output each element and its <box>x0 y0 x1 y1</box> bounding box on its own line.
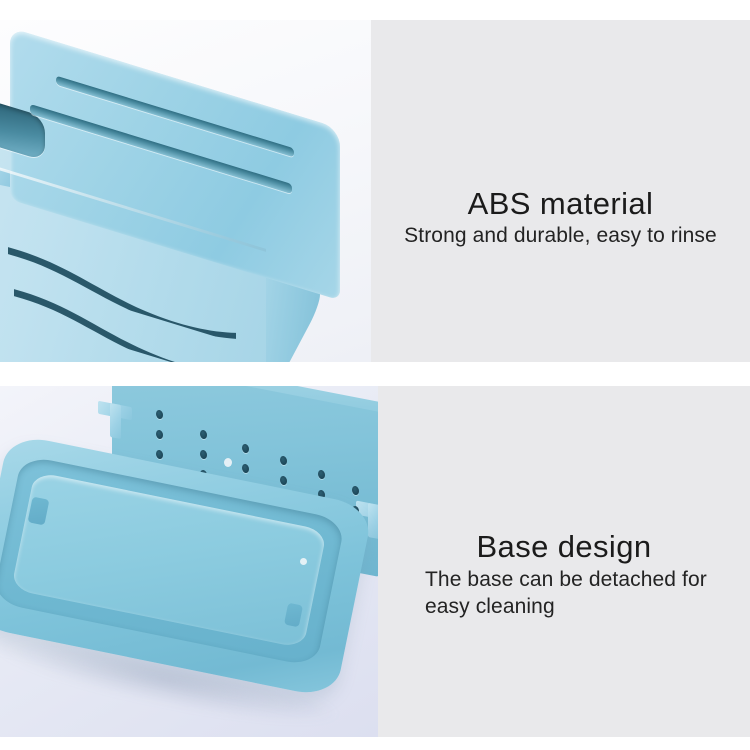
drain-hole <box>200 449 207 459</box>
product-photo-bottom <box>0 386 378 737</box>
text-panel-base-design: Base design The base can be detached for… <box>378 386 750 737</box>
detachable-base-tray <box>0 468 364 720</box>
feature-subtitle-abs-material: Strong and durable, easy to rinse <box>371 222 750 249</box>
mounting-tab-left-stem <box>110 403 121 439</box>
drain-hole <box>200 429 207 439</box>
mounting-tab-right-stem <box>368 503 378 539</box>
drain-hole <box>156 409 163 419</box>
drain-hole <box>156 429 163 439</box>
feature-subtitle-base-design: The base can be detached for easy cleani… <box>425 566 735 620</box>
drain-hole <box>280 455 287 465</box>
feature-heading-base-design: Base design <box>378 529 750 565</box>
feature-heading-abs-material: ABS material <box>371 186 750 222</box>
surface-speck <box>300 558 307 565</box>
text-panel-abs-material: ABS material Strong and durable, easy to… <box>371 20 750 362</box>
drain-hole <box>242 443 249 453</box>
product-photo-top <box>0 20 371 362</box>
product-holder-illustration <box>0 72 371 362</box>
drain-hole <box>156 449 163 459</box>
surface-speck <box>224 458 232 467</box>
feature-panel-base-design: Base design The base can be detached for… <box>0 386 750 737</box>
product-feature-image: ABS material Strong and durable, easy to… <box>0 0 750 750</box>
feature-panel-abs-material: ABS material Strong and durable, easy to… <box>0 20 750 362</box>
